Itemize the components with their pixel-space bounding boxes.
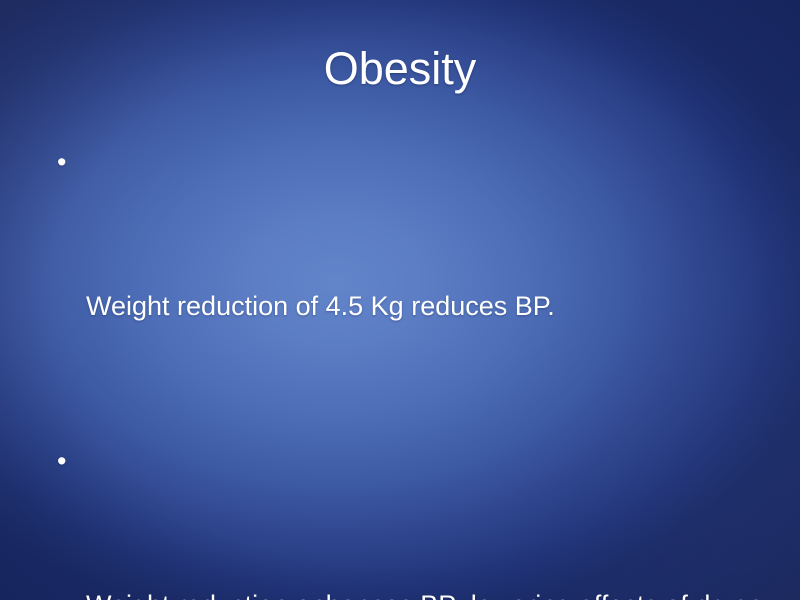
slide-content: Obesity • Weight reduction of 4.5 Kg red… [0, 0, 800, 600]
slide-title: Obesity [0, 44, 800, 94]
bullet-point-icon: • [57, 437, 77, 485]
presentation-slide: Obesity • Weight reduction of 4.5 Kg red… [0, 0, 800, 600]
list-item-label: Weight reduction enhances BP lowering ef… [86, 581, 788, 600]
list-item: • Weight reduction enhances BP lowering … [48, 437, 788, 600]
slide-bullet-list: • Weight reduction of 4.5 Kg reduces BP.… [48, 138, 788, 600]
list-item: • Weight reduction of 4.5 Kg reduces BP. [48, 138, 788, 426]
bullet-point-icon: • [57, 138, 77, 186]
list-item-label: Weight reduction of 4.5 Kg reduces BP. [86, 282, 788, 330]
